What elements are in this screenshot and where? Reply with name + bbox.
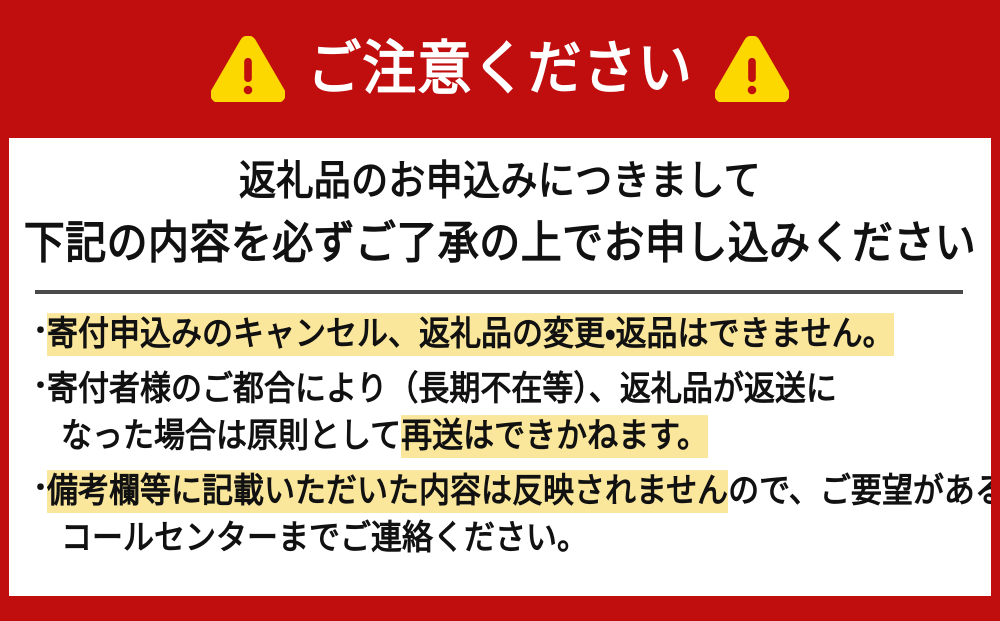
list-item: ・寄付者様のご都合により（長期不在等）、返礼品が返送になった場合は原則として再送… (27, 367, 981, 455)
plain-text: なった場合は原則として (61, 416, 401, 456)
plain-text: ので、ご要望がある際は (728, 471, 991, 511)
list-item: ・備考欄等に記載いただいた内容は反映されませんので、ご要望がある際はコールセンタ… (27, 469, 981, 557)
highlighted-text: 備考欄等に記載いただいた内容は反映されません (47, 470, 728, 513)
highlighted-text: 寄付申込みのキャンセル、返礼品の変更・返品はできません。 (47, 313, 894, 356)
warning-triangle-icon (715, 36, 789, 102)
section-divider (35, 290, 963, 294)
bullet-marker-icon: ・ (27, 369, 47, 405)
notice-bullet-list: ・寄付申込みのキャンセル、返礼品の変更・返品はできません。・寄付者様のご都合によ… (9, 312, 991, 571)
notice-banner: ご注意ください 返礼品のお申込みにつきまして 下記の内容を必ずご了承の上でお申し… (0, 0, 1000, 621)
list-item-line: コールセンターまでご連絡ください。 (47, 516, 981, 561)
list-item-line: 備考欄等に記載いただいた内容は反映されませんので、ご要望がある際は (47, 469, 981, 514)
list-item-line: 寄付者様のご都合により（長期不在等）、返礼品が返送に (47, 367, 981, 412)
banner-header: ご注意ください (0, 0, 1000, 138)
list-item-line: 寄付申込みのキャンセル、返礼品の変更・返品はできません。 (47, 312, 981, 357)
list-item-body: 備考欄等に記載いただいた内容は反映されませんので、ご要望がある際はコールセンター… (47, 469, 981, 557)
lead-heading: 返礼品のお申込みにつきまして 下記の内容を必ずご了承の上でお申し込みください (9, 156, 991, 266)
bullet-marker-icon: ・ (27, 471, 47, 507)
notice-card: 返礼品のお申込みにつきまして 下記の内容を必ずご了承の上でお申し込みください ・… (9, 138, 991, 596)
list-item-body: 寄付者様のご都合により（長期不在等）、返礼品が返送になった場合は原則として再送は… (47, 367, 981, 455)
plain-text: 寄付者様のご都合により（長期不在等）、返礼品が返送に (47, 369, 837, 409)
highlighted-text: 再送はできかねます。 (401, 415, 708, 458)
lead-heading-line-1: 返礼品のお申込みにつきまして (23, 156, 977, 207)
plain-text: コールセンターまでご連絡ください。 (61, 518, 588, 558)
bullet-marker-icon: ・ (27, 314, 47, 350)
warning-triangle-icon (211, 36, 285, 102)
list-item-line: なった場合は原則として再送はできかねます。 (47, 414, 981, 459)
lead-heading-line-2: 下記の内容を必ずご了承の上でお申し込みください (23, 215, 977, 272)
list-item: ・寄付申込みのキャンセル、返礼品の変更・返品はできません。 (27, 312, 981, 353)
list-item-body: 寄付申込みのキャンセル、返礼品の変更・返品はできません。 (47, 312, 981, 353)
page-title: ご注意ください (307, 40, 693, 98)
